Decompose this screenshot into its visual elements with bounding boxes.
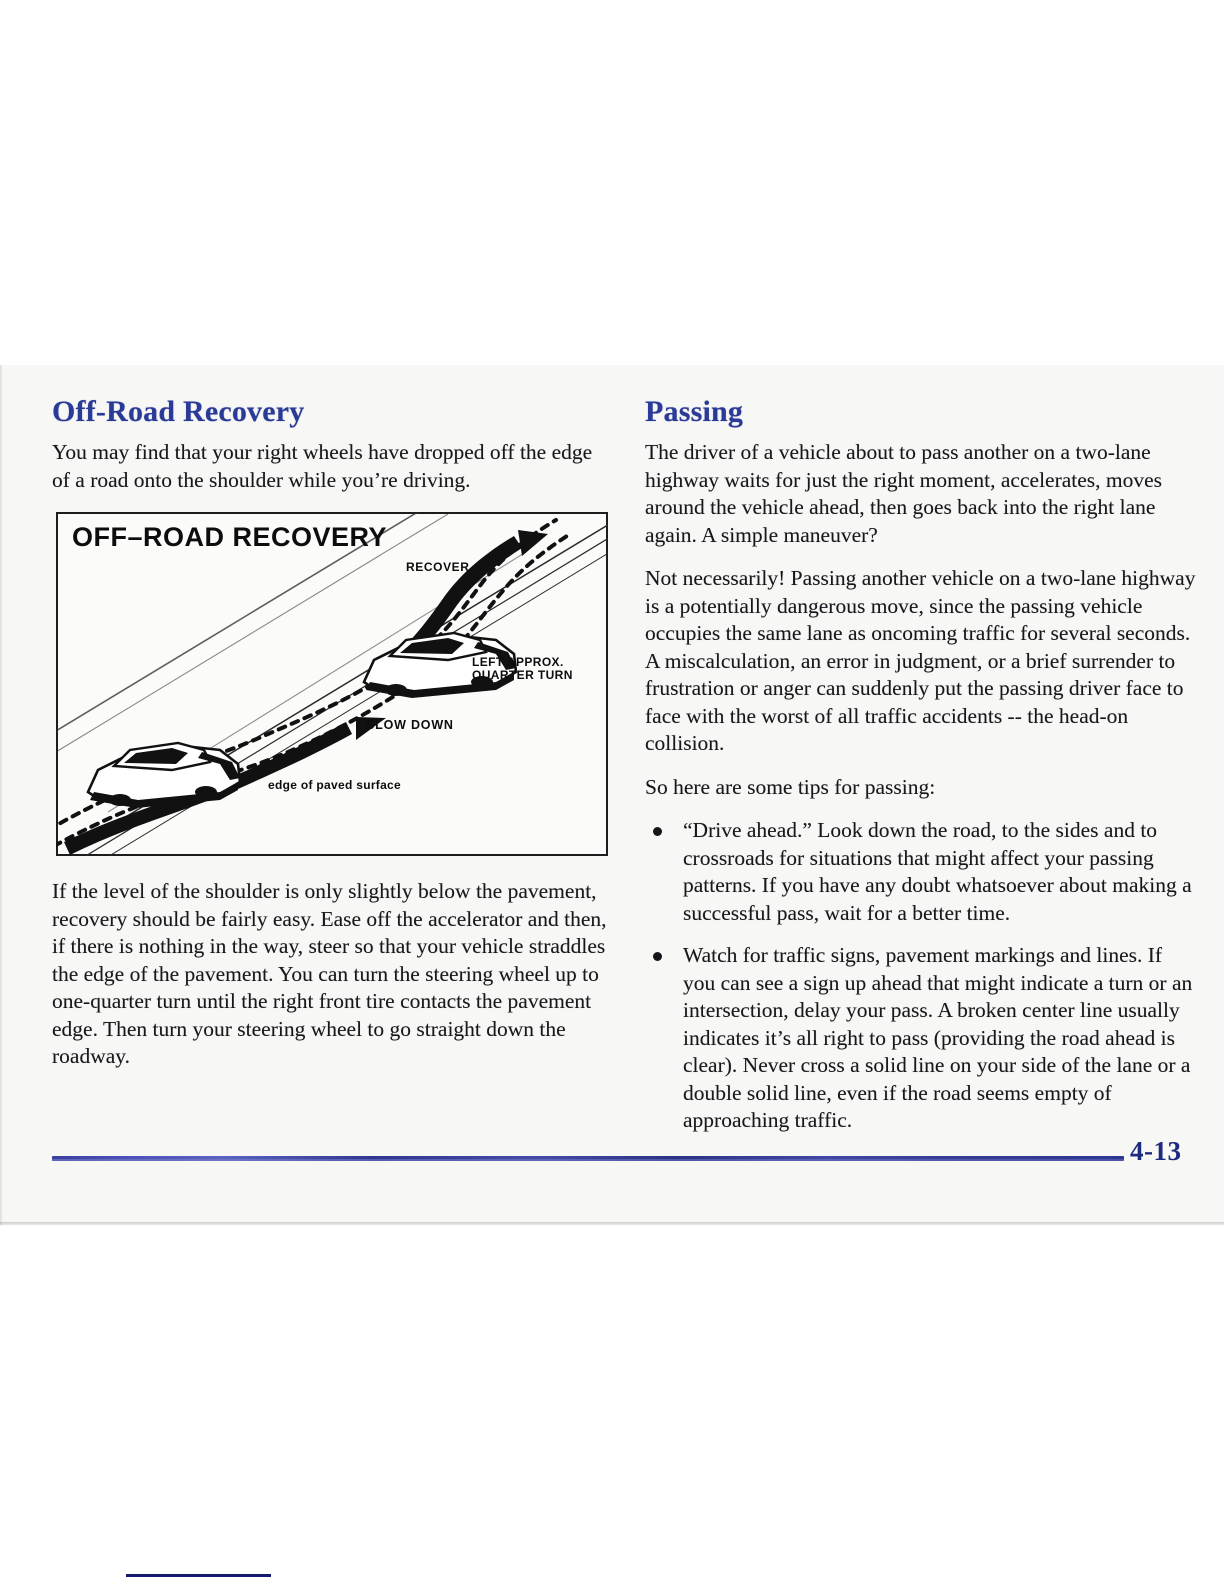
list-item: Watch for traffic signs, pavement markin… — [645, 942, 1197, 1135]
list-item-text: “Drive ahead.” Look down the road, to th… — [683, 818, 1192, 925]
heading-off-road-recovery: Off-Road Recovery — [52, 395, 612, 429]
page-content: Off-Road Recovery You may find that your… — [0, 365, 1224, 1225]
passing-paragraph-1: The driver of a vehicle about to pass an… — [645, 439, 1197, 549]
bullet-icon — [653, 952, 662, 961]
figure-label-recover: RECOVER — [406, 561, 470, 574]
off-road-recovery-body: If the level of the shoulder is only sli… — [52, 878, 612, 1071]
footer-rule — [52, 1156, 1124, 1161]
figure-label-paved-edge: edge of paved surface — [268, 779, 401, 792]
list-item: “Drive ahead.” Look down the road, to th… — [645, 817, 1197, 927]
figure-clip — [56, 512, 608, 856]
left-column: Off-Road Recovery You may find that your… — [52, 395, 612, 1071]
figure-title: OFF–ROAD RECOVERY — [72, 522, 387, 553]
passing-tips-lead-in: So here are some tips for passing: — [645, 774, 1197, 802]
list-item-text: Watch for traffic signs, pavement markin… — [683, 943, 1192, 1132]
scan-edge-artifact — [126, 1574, 271, 1577]
figure-label-slow-down: SLOW DOWN — [366, 719, 454, 732]
off-road-recovery-figure: OFF–ROAD RECOVERY RECOVER LEFT APPROX. Q… — [56, 512, 608, 856]
heading-passing: Passing — [645, 395, 1197, 429]
bullet-icon — [653, 827, 662, 836]
right-column: Passing The driver of a vehicle about to… — [645, 395, 1197, 1135]
page-number: 4-13 — [1130, 1136, 1182, 1167]
passing-tips-list: “Drive ahead.” Look down the road, to th… — [645, 817, 1197, 1135]
passing-paragraph-2: Not necessarily! Passing another vehicle… — [645, 565, 1197, 758]
off-road-recovery-illustration — [56, 512, 608, 856]
figure-label-quarter-turn: LEFT APPROX. QUARTER TURN — [472, 656, 573, 682]
off-road-recovery-intro: You may find that your right wheels have… — [52, 439, 612, 494]
vehicle-lower — [88, 743, 240, 808]
